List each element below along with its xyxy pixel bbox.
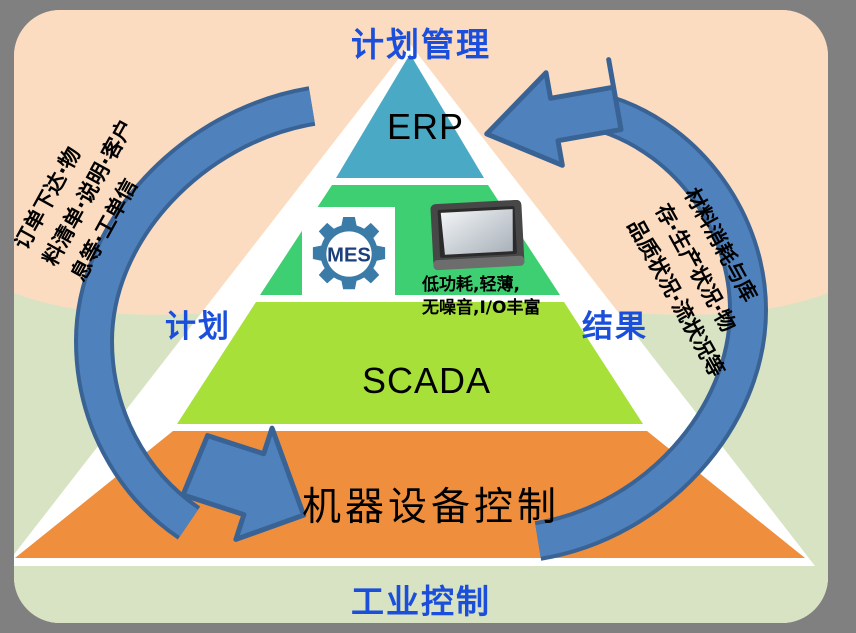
panel-pc-icon [429, 200, 526, 272]
title-top: 计划管理 [14, 18, 828, 66]
device-caption-line-1: 低功耗,轻薄, [422, 274, 572, 297]
title-bottom: 工业控制 [14, 575, 828, 623]
device-caption: 低功耗,轻薄, 无噪音,I/O丰富 [422, 274, 572, 320]
tier-label-scada: SCADA [362, 360, 491, 402]
tier-label-machine-control: 机器设备控制 [302, 476, 560, 532]
label-plan: 计划 [165, 301, 231, 346]
gear-icon: MES [307, 212, 391, 296]
tier-label-erp: ERP [387, 106, 464, 148]
mes-logo-text: MES [327, 244, 371, 266]
label-result: 结果 [582, 301, 648, 346]
device-caption-line-2: 无噪音,I/O丰富 [422, 297, 572, 320]
diagram-card: ERP SCADA 机器设备控制 MES [14, 10, 828, 623]
mes-logo[interactable]: MES [302, 207, 395, 300]
diagram-canvas: ERP SCADA 机器设备控制 MES [0, 0, 856, 633]
